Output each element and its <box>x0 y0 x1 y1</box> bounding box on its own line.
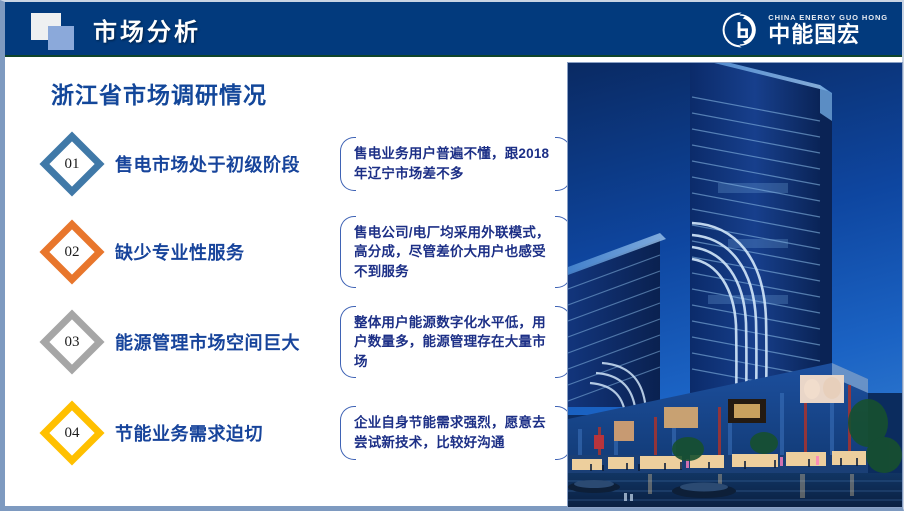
brand-name-en: CHINA ENERGY GUO HONG <box>768 14 888 22</box>
item-label: 缺少专业性服务 <box>115 239 340 265</box>
item-note-text: 售电业务用户普遍不懂，跟2018年辽宁市场差不多 <box>354 144 557 183</box>
item-note-text: 企业自身节能需求强烈，愿意去尝试新技术，比较好沟通 <box>354 413 557 452</box>
logo-text-block: CHINA ENERGY GUO HONG 中能国宏 <box>768 14 888 47</box>
item-number: 01 <box>65 156 80 173</box>
slide: 市场分析 CHINA ENERGY GUO HONG 中能国宏 浙江省市场调研情… <box>0 0 904 511</box>
page-title: 市场分析 <box>93 12 201 47</box>
item-number: 03 <box>65 334 80 351</box>
slide-header: 市场分析 CHINA ENERGY GUO HONG 中能国宏 <box>5 2 902 57</box>
diamond-badge-04: 04 <box>41 402 103 464</box>
item-number: 04 <box>65 425 80 442</box>
list-item: 03 能源管理市场空间巨大 整体用户能源数字化水平低，用户数量多，能源管理存在大… <box>41 307 571 377</box>
guohong-logo-mark <box>721 11 759 49</box>
item-number: 02 <box>65 244 80 261</box>
list-item: 02 缺少专业性服务 售电公司/电厂均采用外联模式，高分成，尽管差价大用户也感受… <box>41 217 571 287</box>
company-logo: CHINA ENERGY GUO HONG 中能国宏 <box>721 10 888 50</box>
item-note-callout: 售电业务用户普遍不懂，跟2018年辽宁市场差不多 <box>340 137 571 190</box>
square-blue-icon <box>48 26 74 50</box>
header-squares-icon <box>31 13 83 51</box>
diamond-badge-02: 02 <box>41 221 103 283</box>
diamond-badge-01: 01 <box>41 133 103 195</box>
item-note-callout: 整体用户能源数字化水平低，用户数量多，能源管理存在大量市场 <box>340 306 571 379</box>
item-note-callout: 售电公司/电厂均采用外联模式，高分成，尽管差价大用户也感受不到服务 <box>340 216 571 289</box>
item-label: 售电市场处于初级阶段 <box>115 151 340 177</box>
item-label: 节能业务需求迫切 <box>115 420 340 446</box>
brand-name-cn: 中能国宏 <box>768 24 888 46</box>
item-note-text: 售电公司/电厂均采用外联模式，高分成，尽管差价大用户也感受不到服务 <box>354 223 557 282</box>
item-note-callout: 企业自身节能需求强烈，愿意去尝试新技术，比较好沟通 <box>340 406 571 459</box>
list-item: 01 售电市场处于初级阶段 售电业务用户普遍不懂，跟2018年辽宁市场差不多 <box>41 133 571 195</box>
list-item: 04 节能业务需求迫切 企业自身节能需求强烈，愿意去尝试新技术，比较好沟通 <box>41 400 571 466</box>
section-title: 浙江省市场调研情况 <box>51 76 267 110</box>
city-skyscraper-night-photo <box>568 63 902 507</box>
item-note-text: 整体用户能源数字化水平低，用户数量多，能源管理存在大量市场 <box>354 313 557 372</box>
item-label: 能源管理市场空间巨大 <box>115 329 340 355</box>
diamond-badge-03: 03 <box>41 311 103 373</box>
